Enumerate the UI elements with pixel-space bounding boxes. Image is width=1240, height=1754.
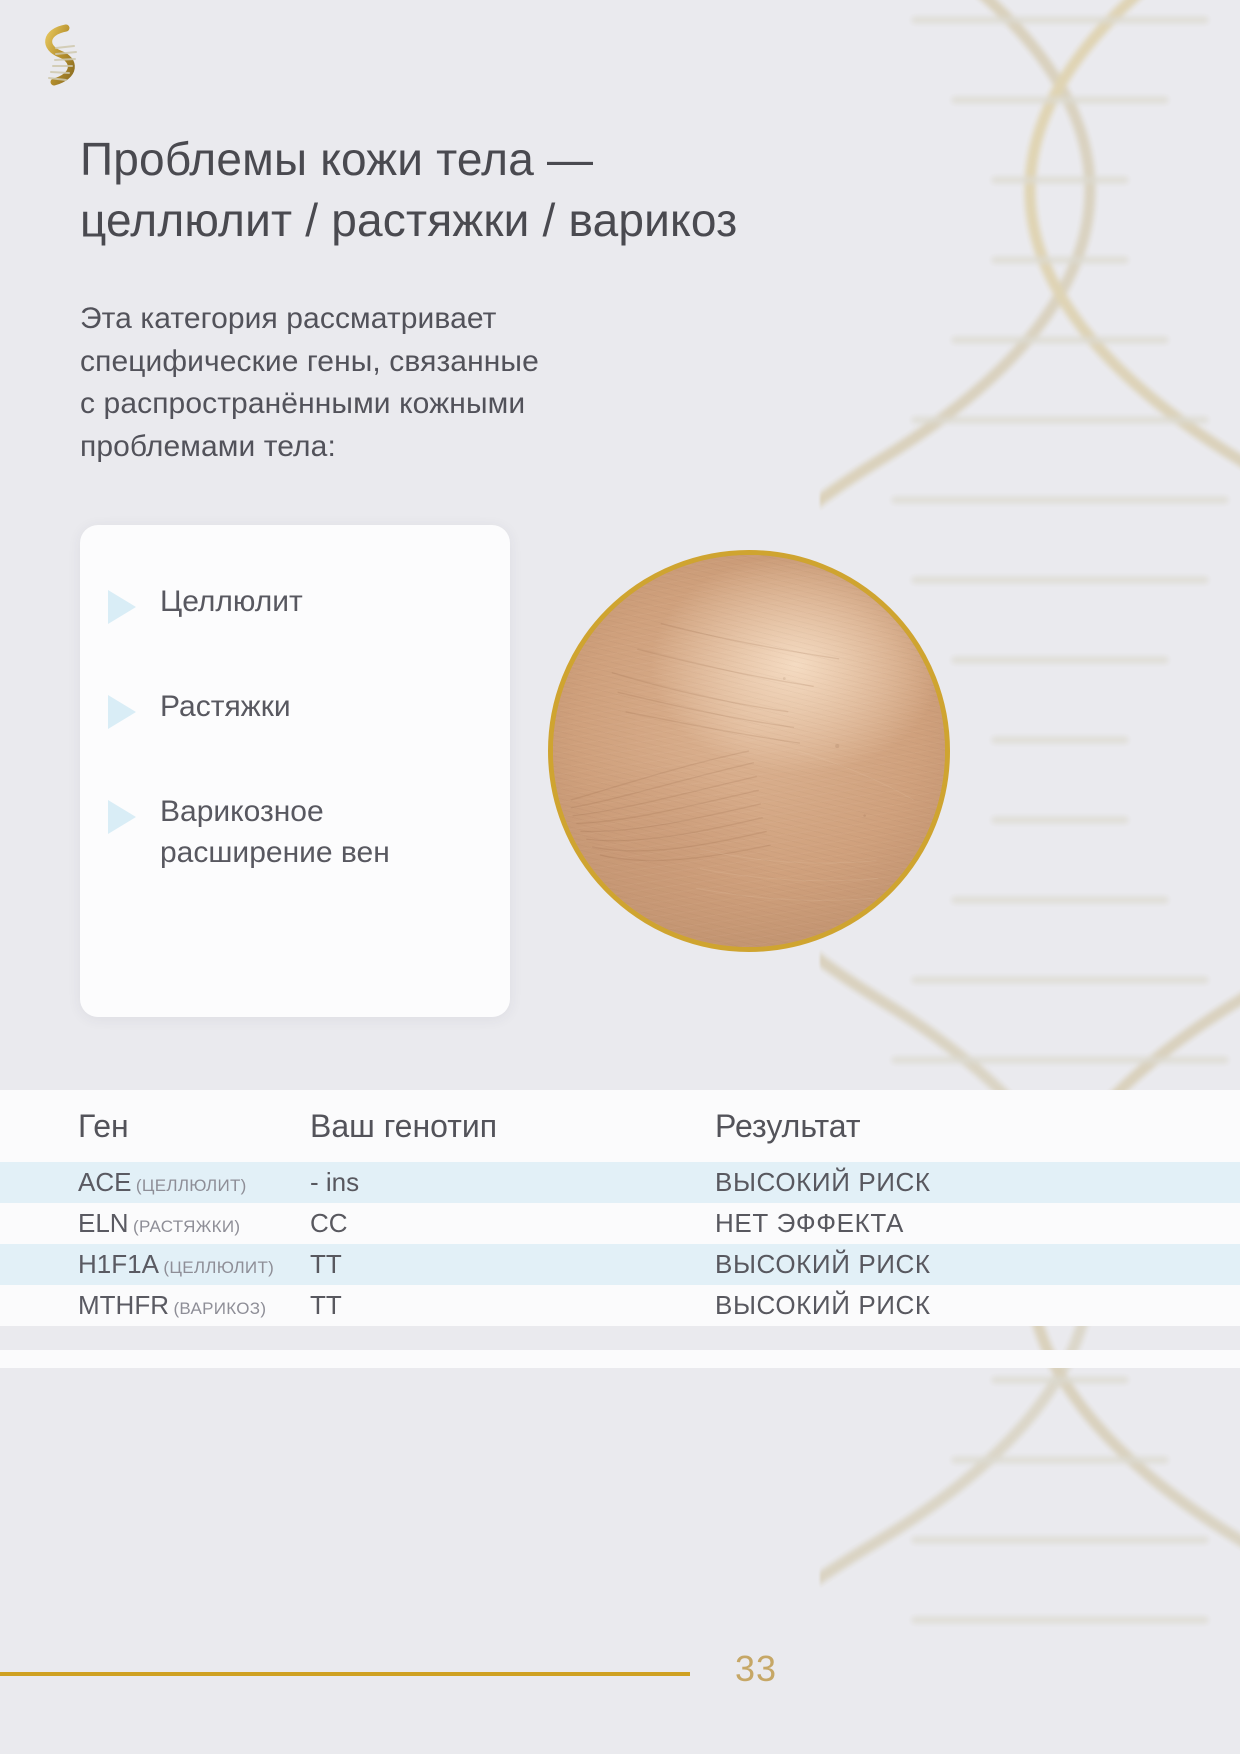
cell-result: ВЫСОКИЙ РИСК	[715, 1285, 1240, 1326]
cell-genotype: - ins	[310, 1162, 715, 1203]
cell-genotype: TT	[310, 1285, 715, 1326]
table-band-tail	[0, 1350, 1240, 1368]
page-title-line-2: целлюлит / растяжки / варикоз	[80, 194, 737, 246]
conditions-card: Целлюлит Растяжки Варикозное расширение …	[80, 525, 510, 1017]
page-number: 33	[735, 1648, 777, 1690]
triangle-right-icon	[108, 800, 136, 834]
table-header-row: Ген Ваш генотип Результат	[0, 1090, 1240, 1162]
list-item: Растяжки	[108, 686, 480, 729]
dna-helix-icon	[26, 18, 90, 90]
gene-name: MTHFR	[78, 1290, 169, 1320]
intro-line-1: Эта категория рассматривает	[80, 302, 497, 335]
list-item-label: Растяжки	[160, 686, 291, 727]
table-row: H1F1A (ЦЕЛЛЮЛИТ) TT ВЫСОКИЙ РИСК	[0, 1244, 1240, 1285]
column-header-gene: Ген	[0, 1090, 310, 1162]
page-title: Проблемы кожи тела — целлюлит / растяжки…	[80, 129, 940, 250]
cell-gene: MTHFR (ВАРИКОЗ)	[0, 1285, 310, 1326]
gene-note: (ВАРИКОЗ)	[173, 1299, 266, 1318]
intro-line-4: проблемами тела:	[80, 430, 336, 463]
list-item-label: Варикозное расширение вен	[160, 791, 480, 874]
results-table: Ген Ваш генотип Результат ACE (ЦЕЛЛЮЛИТ)…	[0, 1090, 1240, 1326]
list-item: Целлюлит	[108, 581, 480, 624]
gene-name: ACE	[78, 1167, 131, 1197]
gene-note: (РАСТЯЖКИ)	[133, 1217, 240, 1236]
list-item: Варикозное расширение вен	[108, 791, 480, 874]
gene-name: ELN	[78, 1208, 129, 1238]
cell-result: ВЫСОКИЙ РИСК	[715, 1162, 1240, 1203]
intro-line-2: специфические гены, связанные	[80, 345, 539, 378]
gene-note: (ЦЕЛЛЮЛИТ)	[136, 1176, 247, 1195]
page-title-line-1: Проблемы кожи тела —	[80, 133, 593, 185]
table-row: MTHFR (ВАРИКОЗ) TT ВЫСОКИЙ РИСК	[0, 1285, 1240, 1326]
skin-texture-photo	[548, 550, 950, 952]
results-table-band: Ген Ваш генотип Результат ACE (ЦЕЛЛЮЛИТ)…	[0, 1090, 1240, 1350]
list-item-label: Целлюлит	[160, 581, 303, 622]
slide-page: Проблемы кожи тела — целлюлит / растяжки…	[0, 0, 1240, 1754]
gene-note: (ЦЕЛЛЮЛИТ)	[163, 1258, 274, 1277]
triangle-right-icon	[108, 590, 136, 624]
cell-genotype: TT	[310, 1244, 715, 1285]
photo-grain	[553, 555, 945, 947]
intro-paragraph: Эта категория рассматривает специфически…	[80, 298, 800, 468]
triangle-right-icon	[108, 695, 136, 729]
cell-result: ВЫСОКИЙ РИСК	[715, 1244, 1240, 1285]
cell-result: НЕТ ЭФФЕКТА	[715, 1203, 1240, 1244]
cell-genotype: CC	[310, 1203, 715, 1244]
column-header-result: Результат	[715, 1090, 1240, 1162]
cell-gene: ELN (РАСТЯЖКИ)	[0, 1203, 310, 1244]
cell-gene: ACE (ЦЕЛЛЮЛИТ)	[0, 1162, 310, 1203]
cell-gene: H1F1A (ЦЕЛЛЮЛИТ)	[0, 1244, 310, 1285]
table-row: ACE (ЦЕЛЛЮЛИТ) - ins ВЫСОКИЙ РИСК	[0, 1162, 1240, 1203]
column-header-genotype: Ваш генотип	[310, 1090, 715, 1162]
gene-name: H1F1A	[78, 1249, 159, 1279]
footer-rule	[0, 1672, 690, 1676]
table-row: ELN (РАСТЯЖКИ) CC НЕТ ЭФФЕКТА	[0, 1203, 1240, 1244]
intro-line-3: с распространёнными кожными	[80, 387, 525, 420]
